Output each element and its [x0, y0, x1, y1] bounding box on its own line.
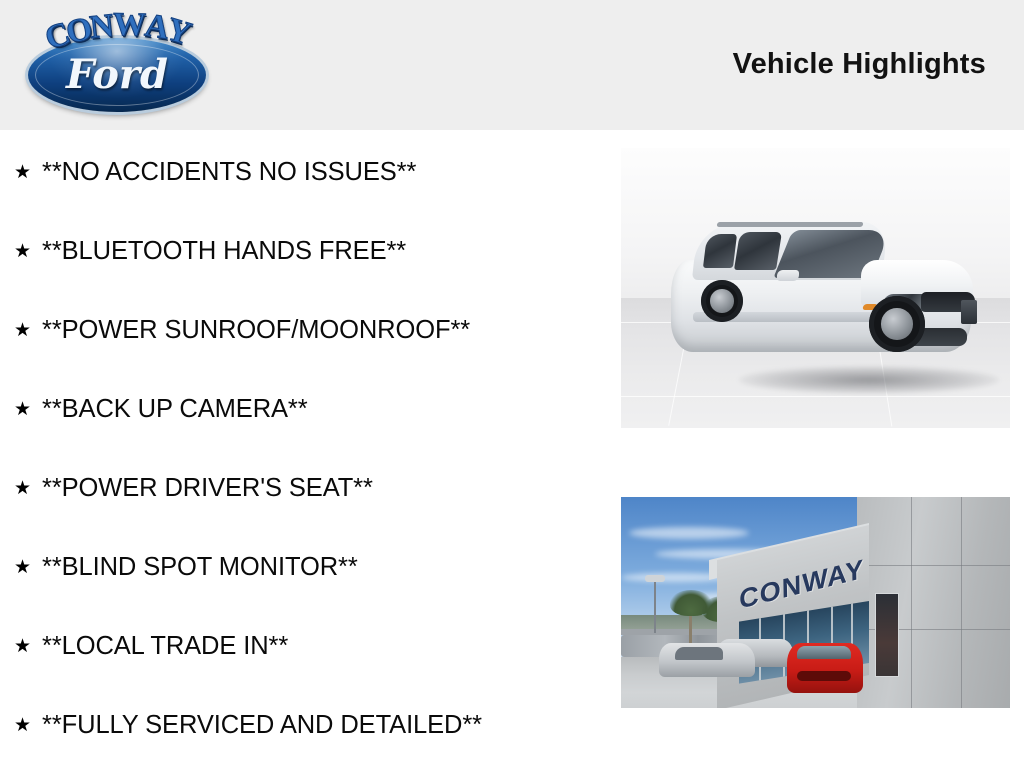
page-header: CONWAY Ford Vehicle Highlights [0, 0, 1024, 130]
wheel-rim [710, 289, 734, 313]
list-item-label: **FULLY SERVICED AND DETAILED** [42, 711, 482, 740]
red-car-windshield [797, 646, 851, 659]
panel-seam [911, 497, 912, 708]
vehicle-photo[interactable] [621, 148, 1010, 428]
list-item-label: **BLIND SPOT MONITOR** [42, 553, 358, 582]
floor-seam [621, 396, 1010, 397]
list-item: ★ **BACK UP CAMERA** [14, 394, 308, 424]
dealership-photo[interactable]: CONWAY [621, 497, 1010, 708]
palm-tree [689, 603, 692, 645]
list-item-label: **NO ACCIDENTS NO ISSUES** [42, 158, 416, 187]
star-icon: ★ [14, 321, 42, 340]
car-side-mirror [777, 270, 799, 281]
car-rear-wheel [701, 280, 743, 322]
red-car-grille [797, 671, 851, 681]
list-item: ★ **LOCAL TRADE IN** [14, 631, 288, 661]
car-front-wheel [869, 296, 925, 352]
car-front-window [734, 232, 782, 270]
list-item-label: **BLUETOOTH HANDS FREE** [42, 237, 406, 266]
list-item: ★ **POWER DRIVER'S SEAT** [14, 473, 373, 503]
silver-car [659, 643, 755, 677]
list-item: ★ **POWER SUNROOF/MOONROOF** [14, 315, 470, 345]
panel-seam [961, 497, 962, 708]
light-pole [654, 581, 656, 633]
car-rear-window [703, 234, 737, 268]
star-icon: ★ [14, 637, 42, 656]
list-item: ★ **NO ACCIDENTS NO ISSUES** [14, 157, 416, 187]
ford-oval-icon [28, 38, 206, 112]
star-icon: ★ [14, 558, 42, 577]
page-title: Vehicle Highlights [733, 48, 986, 81]
cloud [629, 527, 749, 539]
star-icon: ★ [14, 163, 42, 182]
wheel-rim [881, 308, 912, 339]
car-roof-rail [716, 222, 863, 227]
red-car [787, 643, 863, 693]
vehicle-highlights-list: ★ **NO ACCIDENTS NO ISSUES** ★ **BLUETOO… [0, 130, 620, 768]
list-item-label: **POWER DRIVER'S SEAT** [42, 474, 373, 503]
list-item-label: **LOCAL TRADE IN** [42, 632, 288, 661]
conway-ford-logo[interactable]: CONWAY Ford [22, 8, 212, 116]
star-icon: ★ [14, 400, 42, 419]
star-icon: ★ [14, 716, 42, 735]
star-icon: ★ [14, 479, 42, 498]
entrance-door [875, 593, 899, 677]
star-icon: ★ [14, 242, 42, 261]
car-illustration [665, 208, 985, 383]
list-item-label: **POWER SUNROOF/MOONROOF** [42, 316, 470, 345]
car-license-plate [961, 300, 977, 324]
list-item: ★ **BLIND SPOT MONITOR** [14, 552, 358, 582]
list-item: ★ **FULLY SERVICED AND DETAILED** [14, 710, 482, 740]
list-item: ★ **BLUETOOTH HANDS FREE** [14, 236, 406, 266]
panel-seam [857, 565, 1010, 566]
list-item-label: **BACK UP CAMERA** [42, 395, 308, 424]
